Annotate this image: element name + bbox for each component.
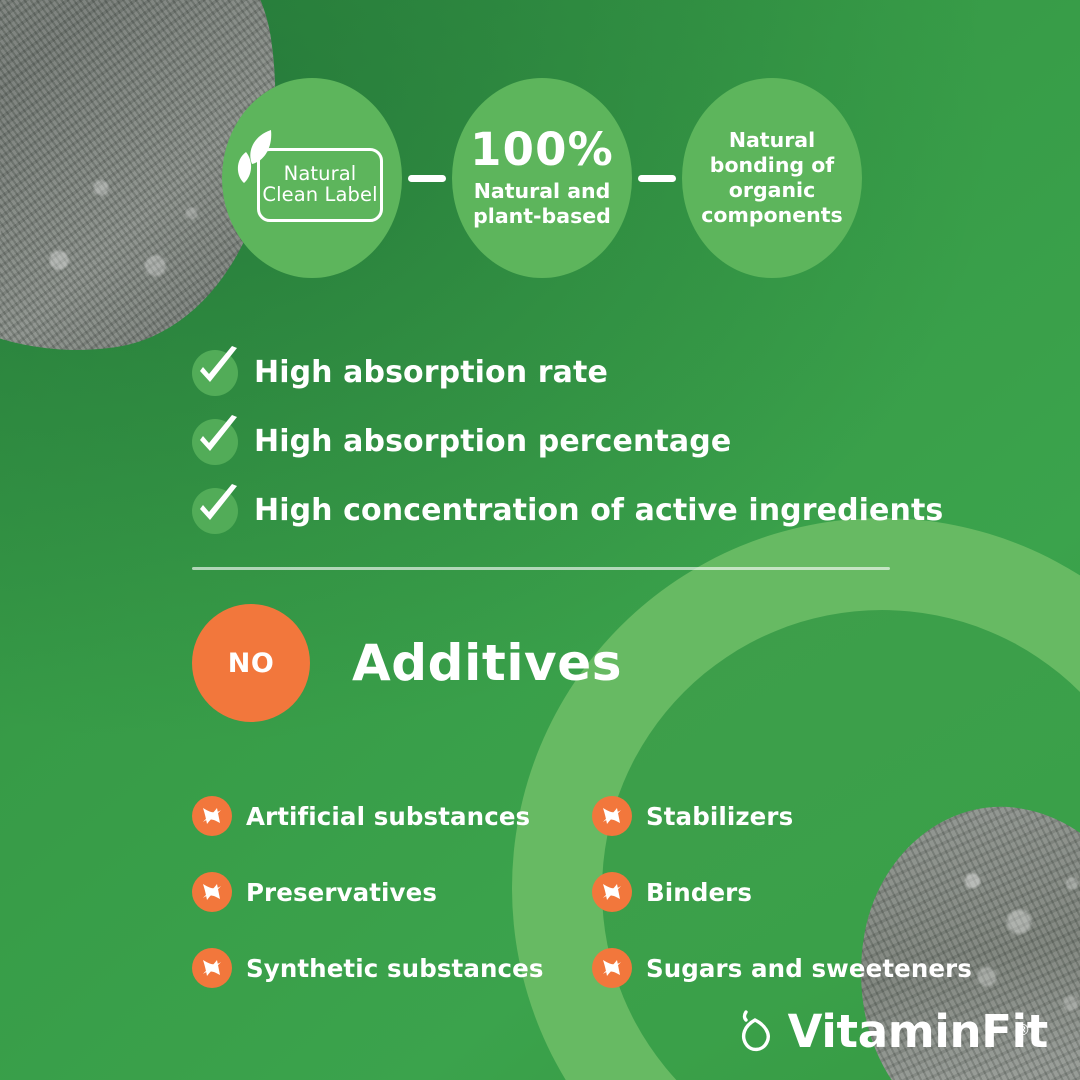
x-icon xyxy=(599,803,625,829)
exclusion-item: Preservatives xyxy=(192,854,592,930)
no-badge: NO xyxy=(192,604,310,722)
x-icon xyxy=(599,879,625,905)
brand-logo: VitaminFit ® xyxy=(733,1008,1048,1054)
no-additives-heading: NO Additives xyxy=(192,604,622,722)
x-icon xyxy=(199,955,225,981)
exclusion-item: Artificial substances xyxy=(192,778,592,854)
exclusion-label: Binders xyxy=(646,878,752,907)
check-icon xyxy=(190,413,242,465)
x-badge xyxy=(592,948,632,988)
benefit-label: High absorption rate xyxy=(254,355,608,390)
logo-trademark: ® xyxy=(1015,1023,1030,1038)
x-badge xyxy=(592,872,632,912)
percent-subtitle-line-1: Natural and xyxy=(474,179,611,204)
droplet-outline-icon xyxy=(733,1008,777,1054)
x-badge xyxy=(192,872,232,912)
natural-clean-label-emblem: Natural Clean Label xyxy=(239,132,385,224)
exclusion-label: Sugars and sweeteners xyxy=(646,954,972,983)
benefit-item: High concentration of active ingredients xyxy=(192,476,952,545)
x-icon xyxy=(199,803,225,829)
connector-line-1 xyxy=(408,175,446,182)
check-badge xyxy=(192,419,238,465)
badge-natural-clean-label: Natural Clean Label xyxy=(222,78,402,278)
benefits-list: High absorption rate High absorption per… xyxy=(192,338,952,545)
percent-value: 100% xyxy=(470,127,614,172)
exclusion-label: Preservatives xyxy=(246,878,437,907)
benefit-item: High absorption rate xyxy=(192,338,952,407)
natural-clean-label-box: Natural Clean Label xyxy=(257,148,383,222)
exclusion-label: Synthetic substances xyxy=(246,954,544,983)
percent-subtitle-line-2: plant-based xyxy=(473,204,611,229)
exclusion-item: Synthetic substances xyxy=(192,930,592,1006)
section-divider xyxy=(192,567,890,570)
logo-name: VitaminFit xyxy=(788,1005,1048,1058)
x-badge xyxy=(592,796,632,836)
exclusion-label: Artificial substances xyxy=(246,802,530,831)
infographic-poster: Natural Clean Label 100% Natural and pla… xyxy=(0,0,1080,1080)
natural-bonding-text: Natural bonding of organic components xyxy=(682,128,862,229)
x-icon xyxy=(199,879,225,905)
exclusions-grid: Artificial substances Stabilizers Preser… xyxy=(192,778,982,1006)
check-icon xyxy=(190,344,242,396)
check-badge xyxy=(192,488,238,534)
exclusion-item: Sugars and sweeteners xyxy=(592,930,982,1006)
header-badge-row: Natural Clean Label 100% Natural and pla… xyxy=(222,78,862,278)
x-badge xyxy=(192,796,232,836)
connector-line-2 xyxy=(638,175,676,182)
badge-natural-bonding: Natural bonding of organic components xyxy=(682,78,862,278)
x-icon xyxy=(599,955,625,981)
exclusion-item: Binders xyxy=(592,854,982,930)
benefit-label: High absorption percentage xyxy=(254,424,731,459)
badge-hundred-percent: 100% Natural and plant-based xyxy=(452,78,632,278)
x-badge xyxy=(192,948,232,988)
logo-wordmark: VitaminFit ® xyxy=(788,1009,1048,1054)
check-badge xyxy=(192,350,238,396)
additives-title: Additives xyxy=(352,634,622,692)
check-icon xyxy=(190,482,242,534)
benefit-label: High concentration of active ingredients xyxy=(254,493,943,528)
exclusion-label: Stabilizers xyxy=(646,802,793,831)
ncl-line-2: Clean Label xyxy=(262,185,377,206)
benefit-item: High absorption percentage xyxy=(192,407,952,476)
ncl-line-1: Natural xyxy=(284,164,357,185)
exclusion-item: Stabilizers xyxy=(592,778,982,854)
